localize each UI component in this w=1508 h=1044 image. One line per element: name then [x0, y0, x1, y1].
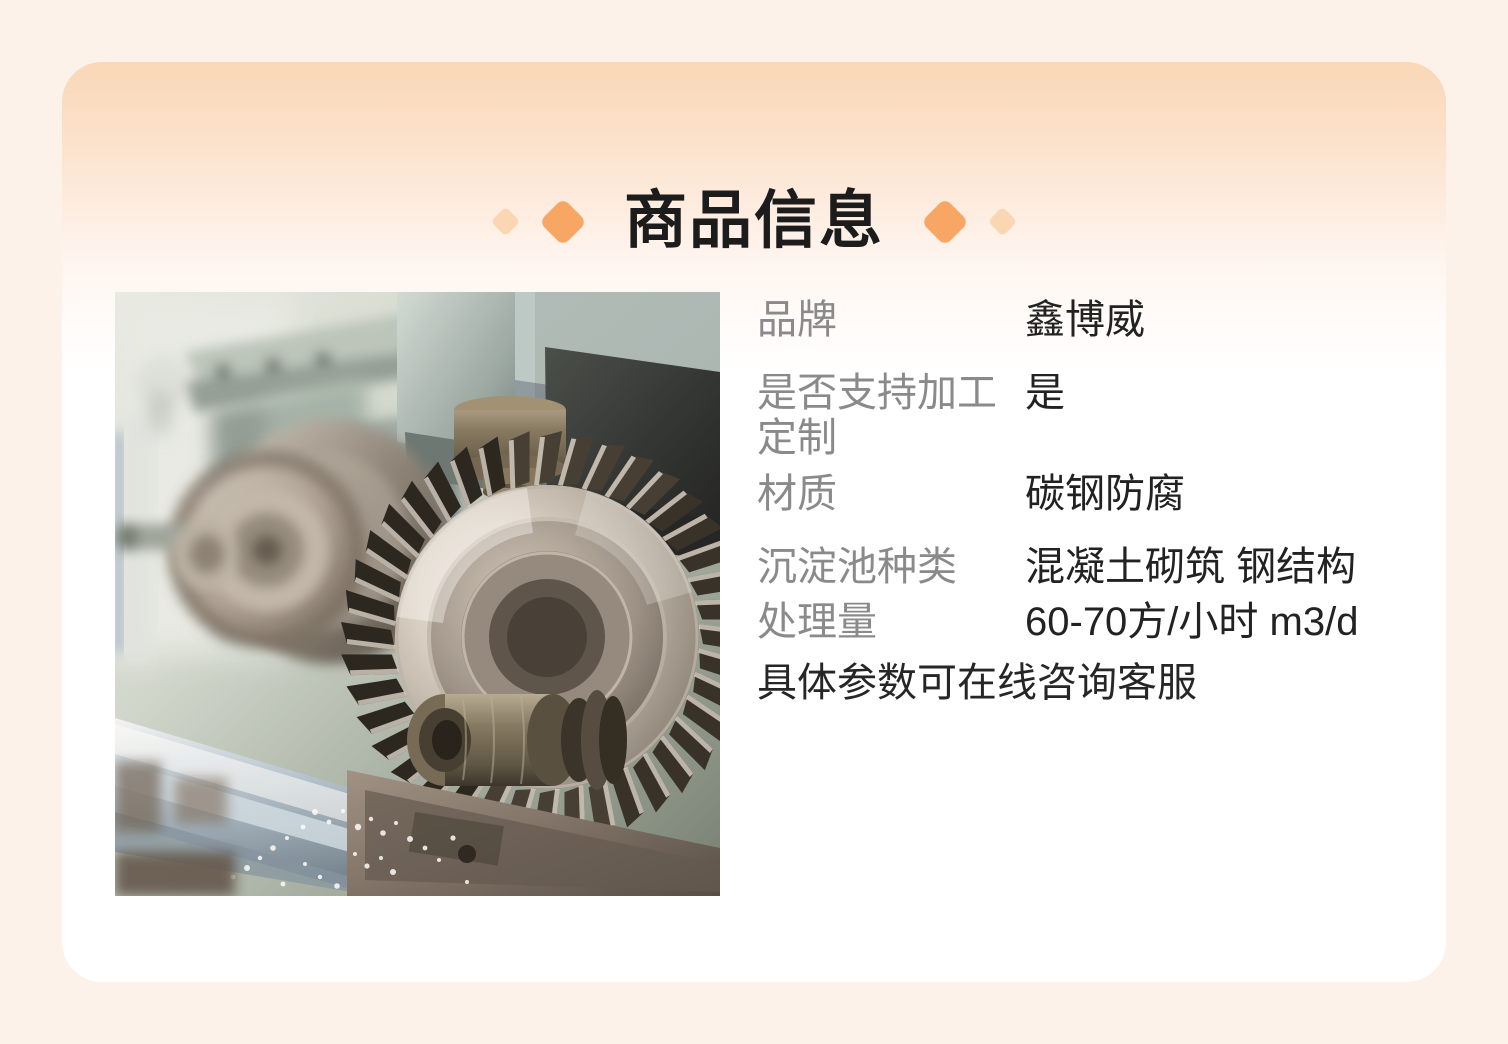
product-info-page: 商品信息 [0, 0, 1508, 1044]
title-row: 商品信息 [62, 190, 1446, 253]
spec-footnote: 具体参数可在线咨询客服 [757, 659, 1395, 707]
decoration-right [914, 205, 1029, 239]
spec-label: 材质 [757, 472, 1025, 517]
spec-list: 品牌 鑫博威 是否支持加工定制 是 材质 碳钢防腐 沉淀池种类 混凝土砌筑 钢结… [757, 292, 1395, 707]
spec-label: 品牌 [757, 298, 1025, 343]
product-image [115, 292, 720, 896]
spec-row: 品牌 鑫博威 [757, 298, 1395, 343]
spec-row: 材质 碳钢防腐 [757, 472, 1395, 517]
gear-machine-illustration [115, 292, 720, 896]
product-info-card: 商品信息 [62, 62, 1446, 982]
spec-value: 碳钢防腐 [1025, 472, 1393, 517]
spec-value: 鑫博威 [1025, 298, 1393, 343]
large-diamond-icon [921, 197, 969, 245]
spec-value: 60-70方/小时 m3/d [1025, 600, 1393, 645]
spec-label: 是否支持加工定制 [757, 371, 1025, 461]
spec-row: 沉淀池种类 混凝土砌筑 钢结构 [757, 545, 1395, 590]
spec-label: 处理量 [757, 600, 1025, 645]
page-title: 商品信息 [624, 190, 884, 253]
card-header: 商品信息 [62, 62, 1446, 272]
spec-value: 是 [1025, 371, 1393, 416]
spec-row: 是否支持加工定制 是 [757, 371, 1395, 461]
spec-row: 处理量 60-70方/小时 m3/d [757, 600, 1395, 645]
small-diamond-icon [988, 207, 1018, 237]
spec-label: 沉淀池种类 [757, 545, 1025, 590]
small-diamond-icon [491, 207, 521, 237]
spec-value: 混凝土砌筑 钢结构 [1025, 545, 1393, 590]
decoration-left [479, 205, 594, 239]
card-content: 品牌 鑫博威 是否支持加工定制 是 材质 碳钢防腐 沉淀池种类 混凝土砌筑 钢结… [115, 292, 1395, 896]
large-diamond-icon [539, 197, 587, 245]
